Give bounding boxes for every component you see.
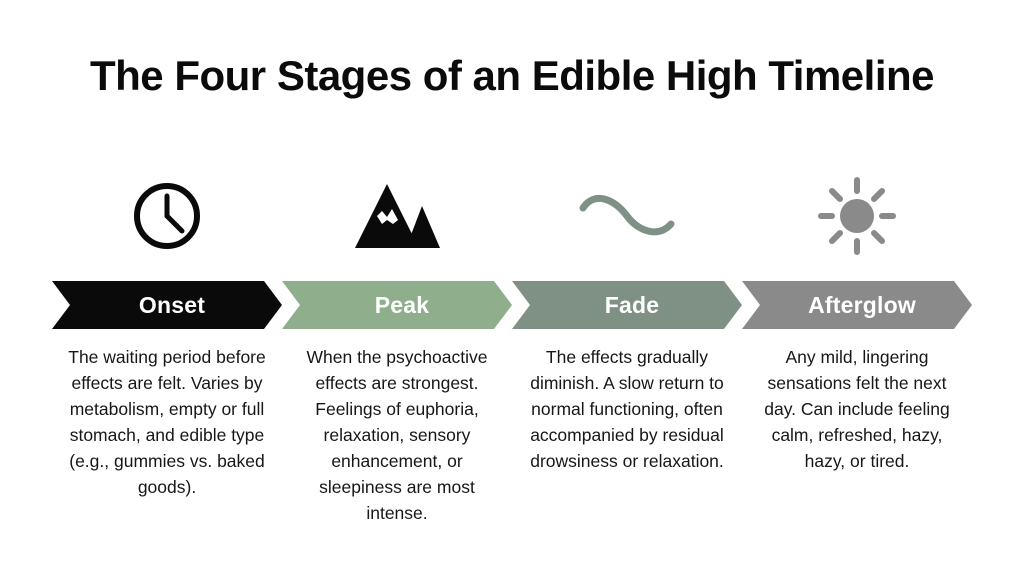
stage-description-onset: The waiting period before effects are fe…: [52, 344, 282, 526]
sun-icon: [817, 170, 897, 262]
stage-description-fade: The effects gradually diminish. A slow r…: [512, 344, 742, 526]
stage-description-peak: When the psychoactive effects are strong…: [282, 344, 512, 526]
wave-icon: [575, 170, 679, 262]
clock-icon: [130, 170, 204, 262]
mountain-icon: [351, 170, 443, 262]
stage-description-afterglow: Any mild, lingering sensations felt the …: [742, 344, 972, 526]
stage-banner-row: Onset Peak Fade Afterglow: [52, 281, 972, 329]
stage-banner-label-peak: Peak: [375, 292, 430, 319]
stage-column-fade: [512, 170, 742, 262]
stage-banner-fade[interactable]: Fade: [512, 281, 742, 329]
stage-banner-label-afterglow: Afterglow: [808, 292, 916, 319]
stage-banner-onset[interactable]: Onset: [52, 281, 282, 329]
stage-banner-label-fade: Fade: [605, 292, 659, 319]
page-title: The Four Stages of an Edible High Timeli…: [0, 52, 1024, 100]
stage-description-row: The waiting period before effects are fe…: [52, 344, 972, 526]
stage-column-peak: [282, 170, 512, 262]
stage-banner-label-onset: Onset: [139, 292, 205, 319]
icon-row: [52, 170, 972, 262]
stage-banner-afterglow[interactable]: Afterglow: [742, 281, 972, 329]
infographic-root: The Four Stages of an Edible High Timeli…: [0, 0, 1024, 572]
stage-column-afterglow: [742, 170, 972, 262]
stage-column-onset: [52, 170, 282, 262]
stage-banner-peak[interactable]: Peak: [282, 281, 512, 329]
